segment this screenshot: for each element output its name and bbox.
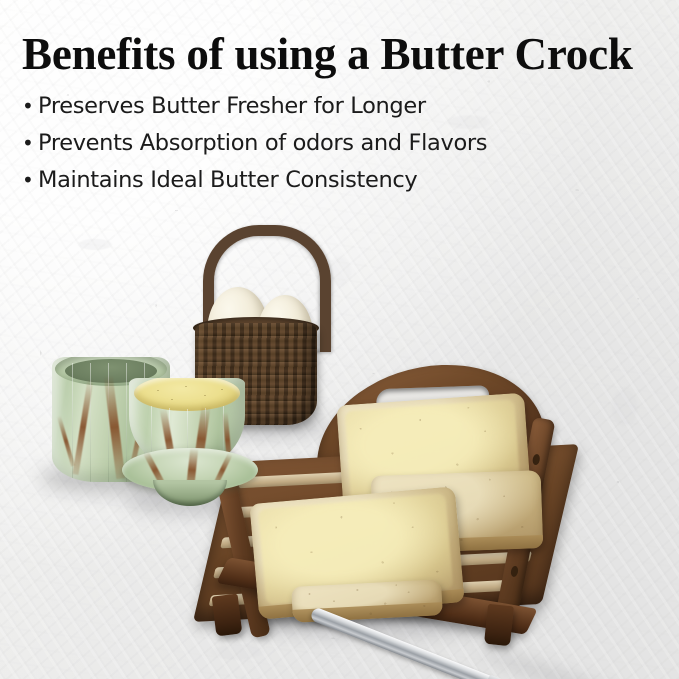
- tray-rail-pin: [532, 453, 541, 465]
- tray-leg: [212, 594, 243, 637]
- bullet-icon: •: [22, 162, 38, 199]
- wooden-tray: [196, 355, 596, 645]
- benefits-list: • Preserves Butter Fresher for Longer • …: [22, 88, 642, 199]
- tray-leg: [484, 604, 514, 646]
- bullet-icon: •: [22, 125, 38, 162]
- butter-fleck: [157, 390, 159, 391]
- infographic-canvas: Benefits of using a Butter Crock • Prese…: [0, 0, 679, 679]
- product-photo: [0, 205, 679, 679]
- list-item-label: Preserves Butter Fresher for Longer: [38, 88, 426, 125]
- bullet-icon: •: [22, 88, 38, 125]
- butter-fleck: [221, 389, 223, 390]
- knife-bolster: [484, 674, 521, 679]
- butter-fleck: [185, 386, 187, 387]
- list-item: • Prevents Absorption of odors and Flavo…: [22, 125, 642, 162]
- tray-rail-pin: [510, 565, 519, 577]
- onyx-vein: [104, 375, 126, 479]
- list-item-label: Maintains Ideal Butter Consistency: [38, 162, 417, 199]
- page-title: Benefits of using a Butter Crock: [22, 28, 662, 80]
- knife-shadow: [474, 641, 656, 679]
- list-item: • Maintains Ideal Butter Consistency: [22, 162, 642, 199]
- butter-fleck: [171, 399, 173, 400]
- butter-fleck: [204, 395, 206, 396]
- list-item-label: Prevents Absorption of odors and Flavors: [38, 125, 487, 162]
- list-item: • Preserves Butter Fresher for Longer: [22, 88, 642, 125]
- butter: [134, 378, 240, 411]
